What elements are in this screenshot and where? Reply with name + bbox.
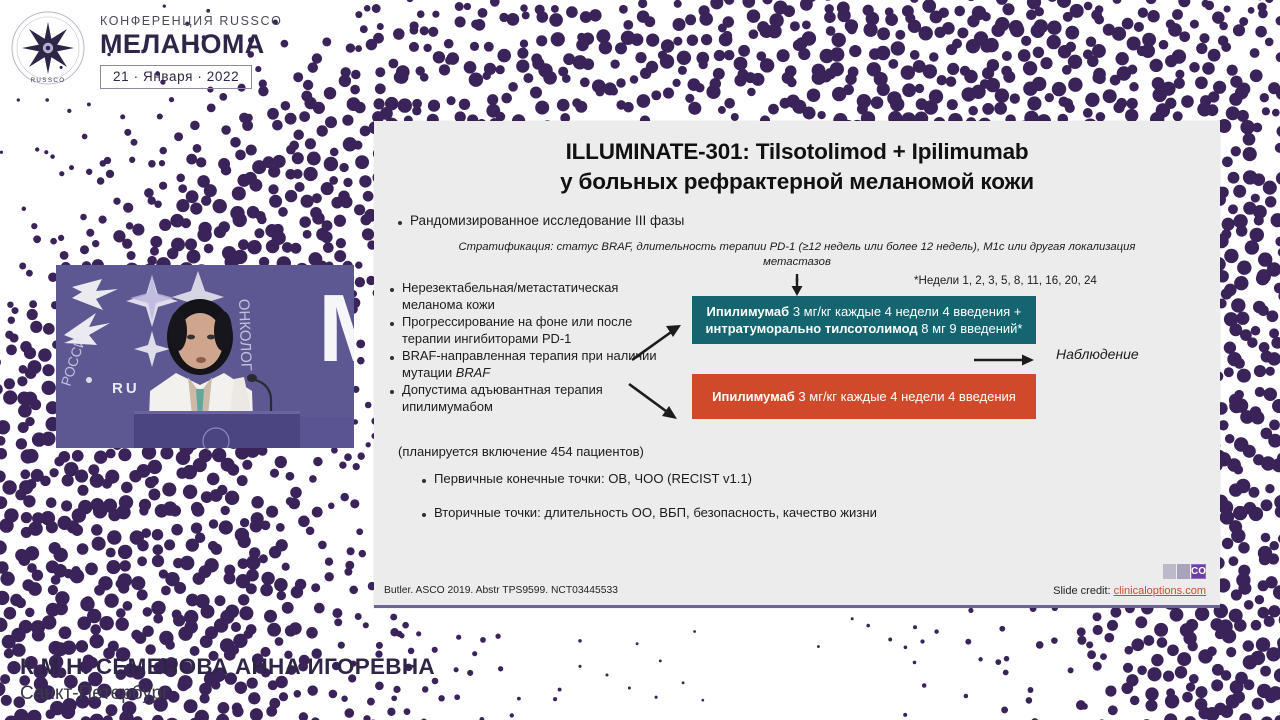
stratification-note: Стратификация: статус BRAF, длительность… xyxy=(430,240,1164,271)
speaker-video-thumbnail[interactable]: ОНКОЛОГ РОССИ RU M xyxy=(56,265,354,448)
endpoints-list: Первичные конечные точки: ОВ, ЧОО (RECIS… xyxy=(422,471,1220,520)
bullet-dot-icon xyxy=(422,513,426,517)
list-item: Прогрессирование на фоне или после терап… xyxy=(390,314,680,347)
list-item: BRAF-направленная терапия при наличии му… xyxy=(390,348,680,381)
cco-logo-segment-1 xyxy=(1163,564,1176,579)
speaker-name: К.М.Н. СЕМЕНОВА АННА ИГОРЕВНА xyxy=(20,653,435,680)
criterion-text: Допустима адъювантная терапия ипилимумаб… xyxy=(402,382,680,415)
bullet-dot-icon xyxy=(390,356,394,360)
arm-exp-drug-1: Ипилимумаб xyxy=(707,304,790,319)
observation-label: Наблюдение xyxy=(1056,346,1139,362)
bullet-dot-icon xyxy=(390,288,394,292)
bullet-dot-icon xyxy=(398,221,402,225)
criterion-text: BRAF-направленная терапия при наличии му… xyxy=(402,348,680,381)
bullet-dot-icon xyxy=(390,322,394,326)
list-item: Нерезектабельная/метастатическая меланом… xyxy=(390,280,680,313)
arm-exp-dose-1: 3 мг/кг каждые 4 недели 4 введения + xyxy=(789,304,1021,319)
presentation-slide: ILLUMINATE-301: Tilsotolimod + Ipilimuma… xyxy=(374,121,1220,608)
primary-endpoint-text: Первичные конечные точки: ОВ, ЧОО (RECIS… xyxy=(434,471,752,486)
svg-text:RUSSCO: RUSSCO xyxy=(31,77,66,84)
cco-logo-segment-2 xyxy=(1177,564,1190,579)
arm-exp-drug-2: интратуморально тилсотолимод xyxy=(706,321,918,336)
list-item: Допустима адъювантная терапия ипилимумаб… xyxy=(390,382,680,415)
cco-logo-icon: CO xyxy=(1163,564,1206,579)
bullet-dot-icon xyxy=(422,479,426,483)
svg-text:ОНКОЛОГ: ОНКОЛОГ xyxy=(235,299,255,372)
slide-footer: Butler. ASCO 2019. Abstr TPS9599. NCT034… xyxy=(374,570,1220,608)
slide-credit-link[interactable]: clinicaloptions.com xyxy=(1114,585,1206,597)
dosing-weeks-note: *Недели 1, 2, 3, 5, 8, 11, 16, 20, 24 xyxy=(914,274,1097,287)
enrollment-note: (планируется включение 454 пациентов) xyxy=(398,444,1220,459)
svg-text:RU: RU xyxy=(112,380,140,397)
citation-text: Butler. ASCO 2019. Abstr TPS9599. NCT034… xyxy=(384,585,618,596)
criterion-text: Прогрессирование на фоне или после терап… xyxy=(402,314,680,347)
speaker-caption: К.М.Н. СЕМЕНОВА АННА ИГОРЕВНА Санкт-Пете… xyxy=(20,653,435,706)
slide-title: ILLUMINATE-301: Tilsotolimod + Ipilimuma… xyxy=(400,137,1194,197)
treatment-arm-control: Ипилимумаб 3 мг/кг каждые 4 недели 4 вве… xyxy=(692,374,1036,419)
eligibility-criteria-list: Нерезектабельная/метастатическая меланом… xyxy=(390,280,680,416)
slide-credit-prefix: Slide credit: xyxy=(1053,585,1114,597)
secondary-endpoint-text: Вторичные точки: длительность ОО, ВБП, б… xyxy=(434,505,877,520)
arm-ctrl-drug: Ипилимумаб xyxy=(712,389,795,404)
arm-ctrl-dose: 3 мг/кг каждые 4 недели 4 введения xyxy=(795,389,1016,404)
speaker-city: Санкт-Петербург xyxy=(20,682,435,706)
criterion-text: Нерезектабельная/метастатическая меланом… xyxy=(402,280,680,313)
study-design-bullet: Рандомизированное исследование III фазы xyxy=(398,213,1220,228)
brand-date-badge: 21 · Января · 2022 xyxy=(100,65,252,90)
slide-title-line-1: ILLUMINATE-301: Tilsotolimod + Ipilimuma… xyxy=(400,137,1194,167)
criterion-text-main: BRAF-направленная терапия при наличии му… xyxy=(402,348,657,380)
svg-text:M: M xyxy=(318,275,354,382)
list-item: Первичные конечные точки: ОВ, ЧОО (RECIS… xyxy=(422,471,1220,486)
brand-title: МЕЛАНОМА xyxy=(100,30,282,58)
cco-logo-mark: CO xyxy=(1191,564,1206,579)
brand-kicker: КОНФЕРЕНЦИЯ RUSSCO xyxy=(100,15,282,28)
criterion-gene-italic: BRAF xyxy=(456,365,490,380)
treatment-arm-experimental: Ипилимумаб 3 мг/кг каждые 4 недели 4 вве… xyxy=(692,296,1036,344)
list-item: Вторичные точки: длительность ОО, ВБП, б… xyxy=(422,505,1220,520)
conference-branding: RUSSCO КОНФЕРЕНЦИЯ RUSSCO МЕЛАНОМА 21 · … xyxy=(8,6,282,94)
presentation-stage: RUSSCO КОНФЕРЕНЦИЯ RUSSCO МЕЛАНОМА 21 · … xyxy=(0,0,1280,720)
study-schema: Нерезектабельная/метастатическая меланом… xyxy=(374,274,1220,442)
arm-exp-dose-2: 8 мг 9 введений* xyxy=(918,321,1023,336)
slide-credit: Slide credit: clinicaloptions.com xyxy=(1053,585,1206,597)
slide-title-line-2: у больных рефрактерной меланомой кожи xyxy=(400,167,1194,197)
bullet-dot-icon xyxy=(390,390,394,394)
study-design-text: Рандомизированное исследование III фазы xyxy=(410,213,684,228)
russco-compass-emblem-icon: RUSSCO xyxy=(8,6,88,94)
